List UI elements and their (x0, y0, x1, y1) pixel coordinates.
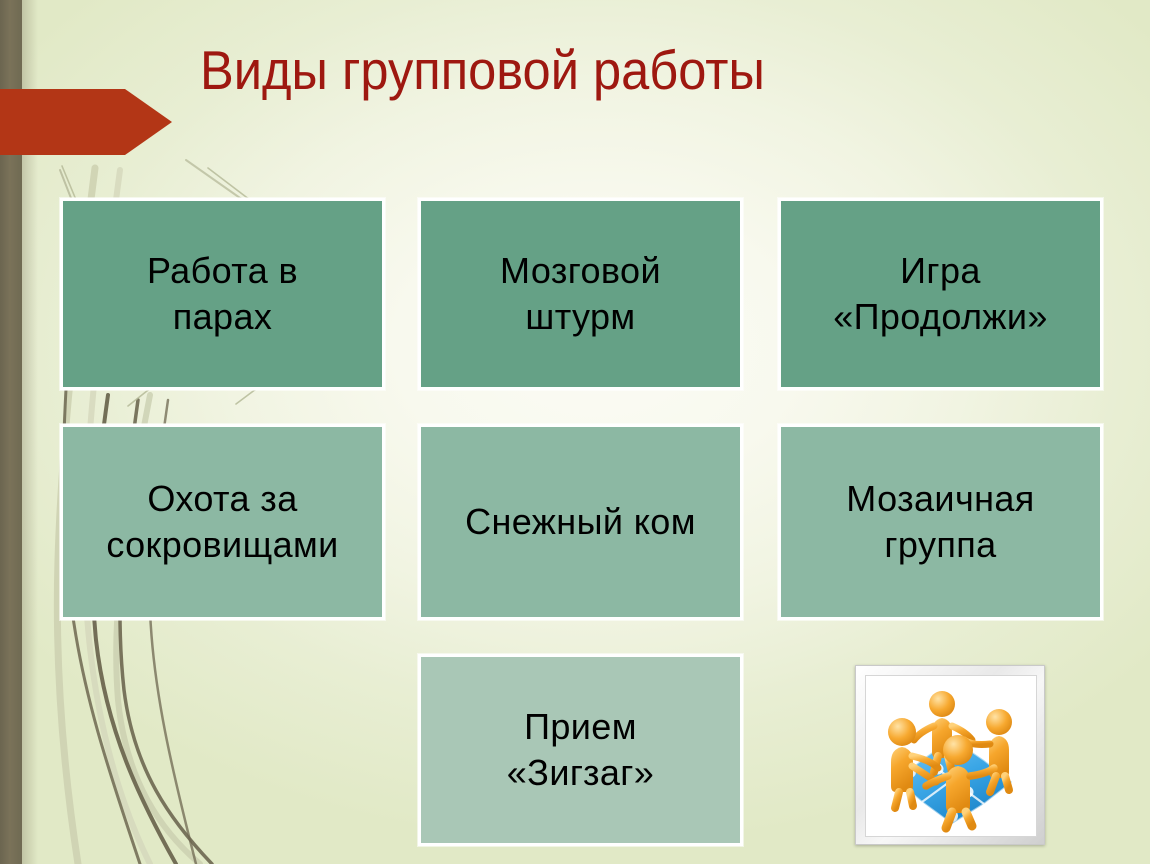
box-rabota-v-parah[interactable]: Работа впарах (60, 198, 385, 390)
box-snezhnyj-kom[interactable]: Снежный ком (418, 424, 743, 620)
teamwork-puzzle-people-image (855, 665, 1045, 845)
box-label: Мозговойштурм (490, 248, 671, 340)
box-igra-prodolzhi[interactable]: Игра«Продолжи» (778, 198, 1103, 390)
box-label: Мозаичнаягруппа (836, 476, 1044, 568)
slide: Виды групповой работы Работа впарах Мозг… (0, 0, 1150, 864)
box-label: Охота засокровищами (96, 476, 348, 568)
box-priem-zigzag[interactable]: Прием«Зигзаг» (418, 654, 743, 846)
box-mozaichnaya-gruppa[interactable]: Мозаичнаягруппа (778, 424, 1103, 620)
clipart-frame-inner (865, 675, 1037, 837)
page-title: Виды групповой работы (200, 42, 1028, 100)
box-label: Работа впарах (137, 248, 308, 340)
box-mozgovoj-shturm[interactable]: Мозговойштурм (418, 198, 743, 390)
box-ohota-za-sokrovishami[interactable]: Охота засокровищами (60, 424, 385, 620)
box-label: Снежный ком (455, 499, 706, 545)
teamwork-puzzle-people-icon (866, 676, 1036, 836)
box-label: Прием«Зигзаг» (497, 704, 664, 796)
box-label: Игра«Продолжи» (823, 248, 1058, 340)
